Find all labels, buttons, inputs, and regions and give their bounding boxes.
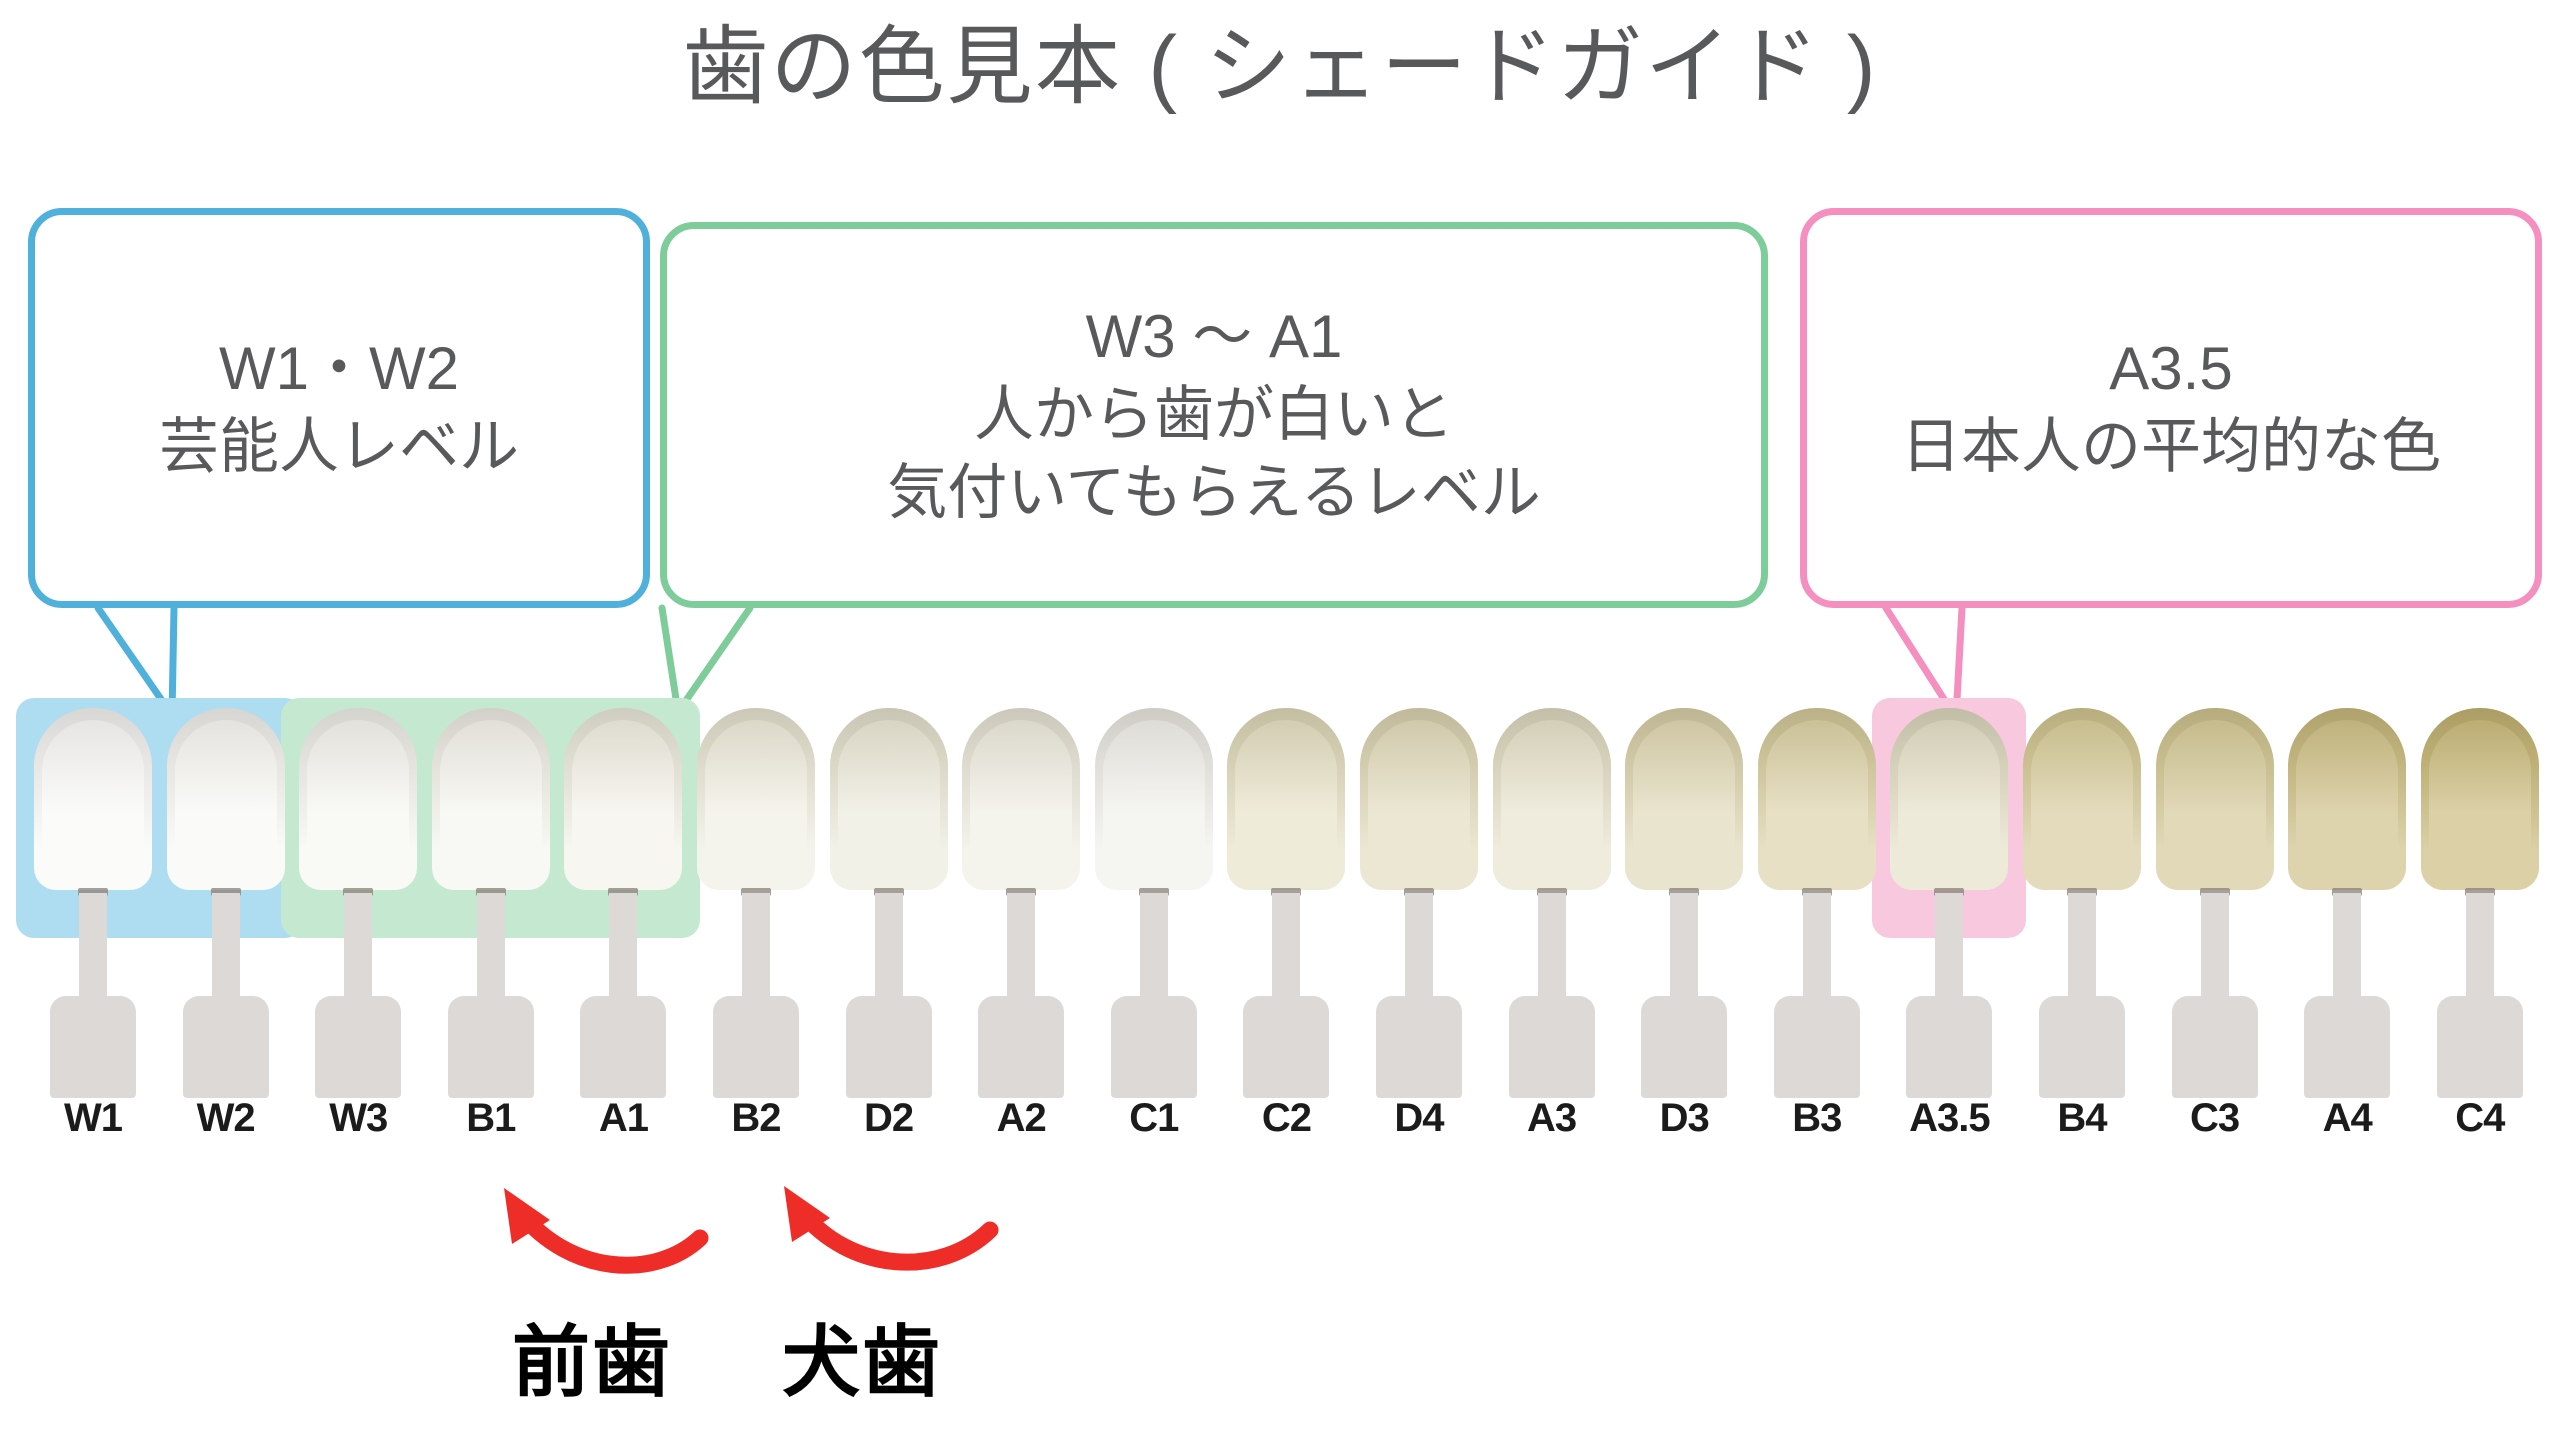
tooth-crown-face xyxy=(1766,720,1868,888)
label-front-teeth: 前歯 xyxy=(512,1300,672,1412)
shade-tab[interactable] xyxy=(956,700,1086,1100)
shade-tab[interactable] xyxy=(2282,700,2412,1100)
tooth-crown-face xyxy=(2296,720,2398,888)
tooth-crown-face xyxy=(307,720,409,888)
tooth-crown-face xyxy=(1898,720,2000,888)
tooth-tab-stem xyxy=(742,893,770,1005)
callout-w1-w2: W1・W2 芸能人レベル xyxy=(28,208,650,608)
tooth-tab-paddle xyxy=(846,996,932,1098)
tooth-tab-stem xyxy=(1405,893,1433,1005)
tooth-tab-paddle xyxy=(2172,996,2258,1098)
tooth-tab-paddle xyxy=(1774,996,1860,1098)
shade-label: A4 xyxy=(2282,1096,2412,1141)
shade-tab[interactable] xyxy=(1752,700,1882,1100)
callout-w1-w2-text: W1・W2 芸能人レベル xyxy=(28,208,650,608)
tooth-tab-paddle xyxy=(448,996,534,1098)
tooth-crown-face xyxy=(1235,720,1337,888)
tooth-tab-paddle xyxy=(1509,996,1595,1098)
tooth-crown-face xyxy=(2031,720,2133,888)
shade-tab[interactable] xyxy=(426,700,556,1100)
tooth-tab-stem xyxy=(609,893,637,1005)
shade-tab-strip xyxy=(0,690,2560,1110)
callout-a3-5-text: A3.5 日本人の平均的な色 xyxy=(1800,208,2542,608)
tooth-tab-paddle xyxy=(1376,996,1462,1098)
annotation-arrows-icon xyxy=(400,1180,1100,1310)
callout-w3-a1-line-2: 人から歯が白いと xyxy=(974,376,1454,454)
tooth-crown-face xyxy=(1103,720,1205,888)
shade-tab[interactable] xyxy=(2017,700,2147,1100)
shade-label: A3.5 xyxy=(1884,1096,2014,1141)
tooth-tab-paddle xyxy=(1906,996,1992,1098)
shade-label: W3 xyxy=(293,1096,423,1141)
callout-w1-w2-line-2: 芸能人レベル xyxy=(159,408,519,486)
shade-label: D2 xyxy=(824,1096,954,1141)
tooth-tab-stem xyxy=(1538,893,1566,1005)
shade-tab[interactable] xyxy=(1221,700,1351,1100)
callout-w3-a1-line-3: 気付いてもらえるレベル xyxy=(887,454,1540,532)
tooth-crown-face xyxy=(440,720,542,888)
tooth-tab-stem xyxy=(1007,893,1035,1005)
tooth-tab-paddle xyxy=(315,996,401,1098)
callout-a3-5-line-2: 日本人の平均的な色 xyxy=(1901,408,2441,486)
shade-label: B1 xyxy=(426,1096,556,1141)
shade-label: C2 xyxy=(1221,1096,1351,1141)
shade-tab[interactable] xyxy=(293,700,423,1100)
label-canine: 犬歯 xyxy=(782,1300,942,1412)
shade-label: B3 xyxy=(1752,1096,1882,1141)
callout-w3-a1: W3 〜 A1 人から歯が白いと 気付いてもらえるレベル xyxy=(660,222,1768,608)
tooth-tab-stem xyxy=(2333,893,2361,1005)
shade-label: A1 xyxy=(558,1096,688,1141)
shade-tab[interactable] xyxy=(2150,700,2280,1100)
tooth-crown-face xyxy=(1368,720,1470,888)
shade-label: W2 xyxy=(161,1096,291,1141)
callout-w3-a1-text: W3 〜 A1 人から歯が白いと 気付いてもらえるレベル xyxy=(660,222,1768,608)
shade-tab[interactable] xyxy=(1354,700,1484,1100)
tooth-tab-stem xyxy=(2201,893,2229,1005)
tooth-crown-face xyxy=(2429,720,2531,888)
tooth-tab-stem xyxy=(2068,893,2096,1005)
tooth-tab-stem xyxy=(477,893,505,1005)
tooth-crown-face xyxy=(1501,720,1603,888)
page-title: 歯の色見本 ( シェードガイド ) xyxy=(0,22,2560,112)
tooth-crown-face xyxy=(175,720,277,888)
shade-label: A3 xyxy=(1487,1096,1617,1141)
tooth-tab-stem xyxy=(1140,893,1168,1005)
shade-label: C1 xyxy=(1089,1096,1219,1141)
shade-guide-infographic: 歯の色見本 ( シェードガイド ) W1・W2 芸能人レベル W3 〜 A1 人… xyxy=(0,0,2560,1440)
callout-a3-5-line-1: A3.5 xyxy=(2109,330,2232,408)
tooth-tab-paddle xyxy=(2039,996,2125,1098)
tooth-tab-paddle xyxy=(1243,996,1329,1098)
shade-tab[interactable] xyxy=(161,700,291,1100)
tooth-tab-paddle xyxy=(978,996,1064,1098)
tooth-tab-paddle xyxy=(183,996,269,1098)
shade-tab[interactable] xyxy=(28,700,158,1100)
callout-a3-5: A3.5 日本人の平均的な色 xyxy=(1800,208,2542,608)
shade-label: B2 xyxy=(691,1096,821,1141)
shade-tab[interactable] xyxy=(1884,700,2014,1100)
tooth-tab-stem xyxy=(1803,893,1831,1005)
tooth-crown-face xyxy=(838,720,940,888)
tooth-tab-paddle xyxy=(1641,996,1727,1098)
tooth-crown-face xyxy=(970,720,1072,888)
tooth-tab-stem xyxy=(1935,893,1963,1005)
shade-label: C4 xyxy=(2415,1096,2545,1141)
callout-w3-a1-line-1: W3 〜 A1 xyxy=(1086,298,1343,376)
tooth-crown-face xyxy=(1633,720,1735,888)
shade-label: B4 xyxy=(2017,1096,2147,1141)
tooth-tab-stem xyxy=(1272,893,1300,1005)
shade-tab[interactable] xyxy=(558,700,688,1100)
shade-label: D4 xyxy=(1354,1096,1484,1141)
tooth-tab-stem xyxy=(79,893,107,1005)
tooth-tab-paddle xyxy=(50,996,136,1098)
tooth-tab-stem xyxy=(212,893,240,1005)
tooth-tab-stem xyxy=(344,893,372,1005)
shade-label: D3 xyxy=(1619,1096,1749,1141)
tooth-tab-stem xyxy=(2466,893,2494,1005)
shade-tab[interactable] xyxy=(824,700,954,1100)
tooth-tab-paddle xyxy=(2304,996,2390,1098)
tooth-tab-paddle xyxy=(713,996,799,1098)
shade-label: C3 xyxy=(2150,1096,2280,1141)
shade-tab[interactable] xyxy=(1487,700,1617,1100)
tooth-crown-face xyxy=(2164,720,2266,888)
shade-label: A2 xyxy=(956,1096,1086,1141)
shade-label: W1 xyxy=(28,1096,158,1141)
tooth-crown-face xyxy=(42,720,144,888)
tooth-crown-face xyxy=(705,720,807,888)
shade-tab[interactable] xyxy=(2415,700,2545,1100)
tooth-crown-face xyxy=(572,720,674,888)
tooth-tab-paddle xyxy=(580,996,666,1098)
tooth-tab-stem xyxy=(875,893,903,1005)
shade-tab[interactable] xyxy=(691,700,821,1100)
shade-tab[interactable] xyxy=(1619,700,1749,1100)
callout-w1-w2-line-1: W1・W2 xyxy=(219,330,459,408)
tooth-tab-paddle xyxy=(1111,996,1197,1098)
tooth-tab-stem xyxy=(1670,893,1698,1005)
tooth-tab-paddle xyxy=(2437,996,2523,1098)
shade-tab[interactable] xyxy=(1089,700,1219,1100)
